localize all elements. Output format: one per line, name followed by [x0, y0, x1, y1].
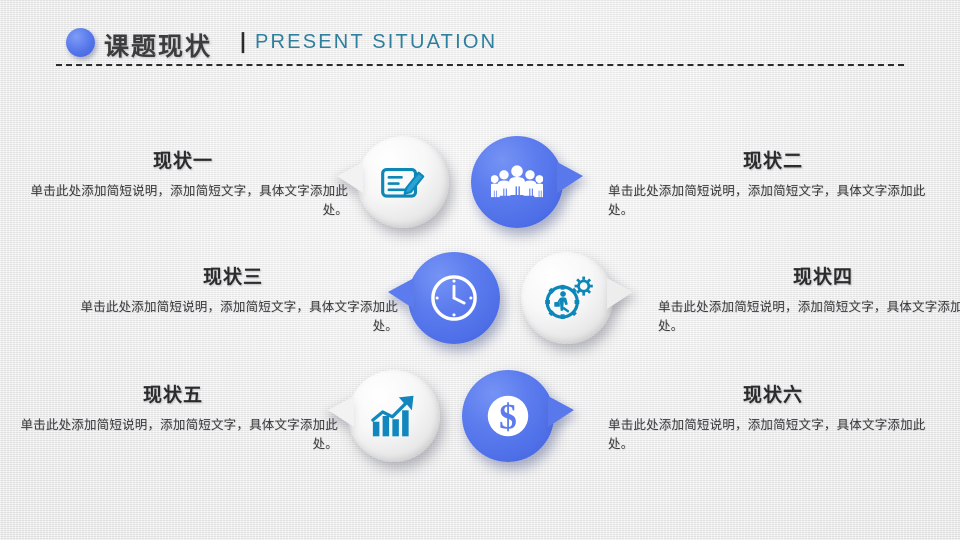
dollar-coin-icon: $	[481, 389, 535, 443]
header-divider	[56, 64, 904, 66]
item-title-4: 现状四	[658, 262, 960, 289]
item-text-2: 现状二 单击此处添加简短说明，添加简短文字，具体文字添加此处。	[608, 146, 938, 220]
bubble-tail-left-1	[337, 162, 363, 193]
gear-businessman-icon	[540, 273, 594, 323]
bubble-item-3[interactable]	[408, 252, 500, 344]
slide-canvas: 课题现状 丨 PRESENT SITUATION 现状一 单击此处添加简短说明，…	[0, 0, 960, 540]
document-pen-icon	[378, 157, 428, 207]
bubble-item-5[interactable]	[348, 370, 440, 462]
blue-dot-icon	[66, 28, 95, 57]
bubble-tail-left-5	[328, 396, 354, 427]
item-text-1: 现状一 单击此处添加简短说明，添加简短文字，具体文字添加此处。	[18, 146, 348, 220]
item-body-2: 单击此处添加简短说明，添加简短文字，具体文字添加此处。	[608, 181, 938, 220]
content-row-1: 现状一 单击此处添加简短说明，添加简短文字，具体文字添加此处。	[0, 128, 960, 248]
item-title-1: 现状一	[18, 146, 348, 173]
clock-icon	[427, 271, 481, 325]
item-text-6: 现状六 单击此处添加简短说明，添加简短文字，具体文字添加此处。	[608, 380, 938, 454]
item-title-6: 现状六	[608, 380, 938, 407]
item-title-3: 现状三	[68, 262, 398, 289]
bubble-item-6[interactable]: $	[462, 370, 554, 462]
content-row-2: 现状三 单击此处添加简短说明，添加简短文字，具体文字添加此处。	[0, 244, 960, 364]
content-row-3: 现状五 单击此处添加简短说明，添加简短文字，具体文字添加此处。	[0, 362, 960, 482]
team-people-icon	[491, 160, 543, 204]
item-body-4: 单击此处添加简短说明，添加简短文字，具体文字添加此处。	[658, 297, 960, 336]
slide-header: 课题现状 丨 PRESENT SITUATION	[0, 0, 960, 72]
item-body-1: 单击此处添加简短说明，添加简短文字，具体文字添加此处。	[18, 181, 348, 220]
item-body-5: 单击此处添加简短说明，添加简短文字，具体文字添加此处。	[8, 415, 338, 454]
bubble-tail-right-2	[557, 162, 583, 193]
item-body-6: 单击此处添加简短说明，添加简短文字，具体文字添加此处。	[608, 415, 938, 454]
growth-chart-icon	[368, 392, 420, 440]
item-text-5: 现状五 单击此处添加简短说明，添加简短文字，具体文字添加此处。	[8, 380, 338, 454]
item-text-3: 现状三 单击此处添加简短说明，添加简短文字，具体文字添加此处。	[68, 262, 398, 336]
bubble-tail-right-6	[548, 396, 574, 427]
item-text-4: 现状四 单击此处添加简短说明，添加简短文字，具体文字添加此处。	[658, 262, 960, 336]
page-title-cn: 课题现状	[104, 27, 212, 63]
title-separator: 丨	[232, 26, 254, 58]
bubble-tail-left-3	[388, 278, 414, 309]
page-title-en: PRESENT SITUATION	[255, 31, 497, 54]
bubble-item-2[interactable]	[471, 136, 563, 228]
item-title-2: 现状二	[608, 146, 938, 173]
bubble-item-4[interactable]	[521, 252, 613, 344]
bubble-tail-right-4	[607, 278, 633, 309]
bubble-item-1[interactable]	[357, 136, 449, 228]
item-title-5: 现状五	[8, 380, 338, 407]
item-body-3: 单击此处添加简短说明，添加简短文字，具体文字添加此处。	[68, 297, 398, 336]
svg-text:$: $	[499, 397, 517, 437]
